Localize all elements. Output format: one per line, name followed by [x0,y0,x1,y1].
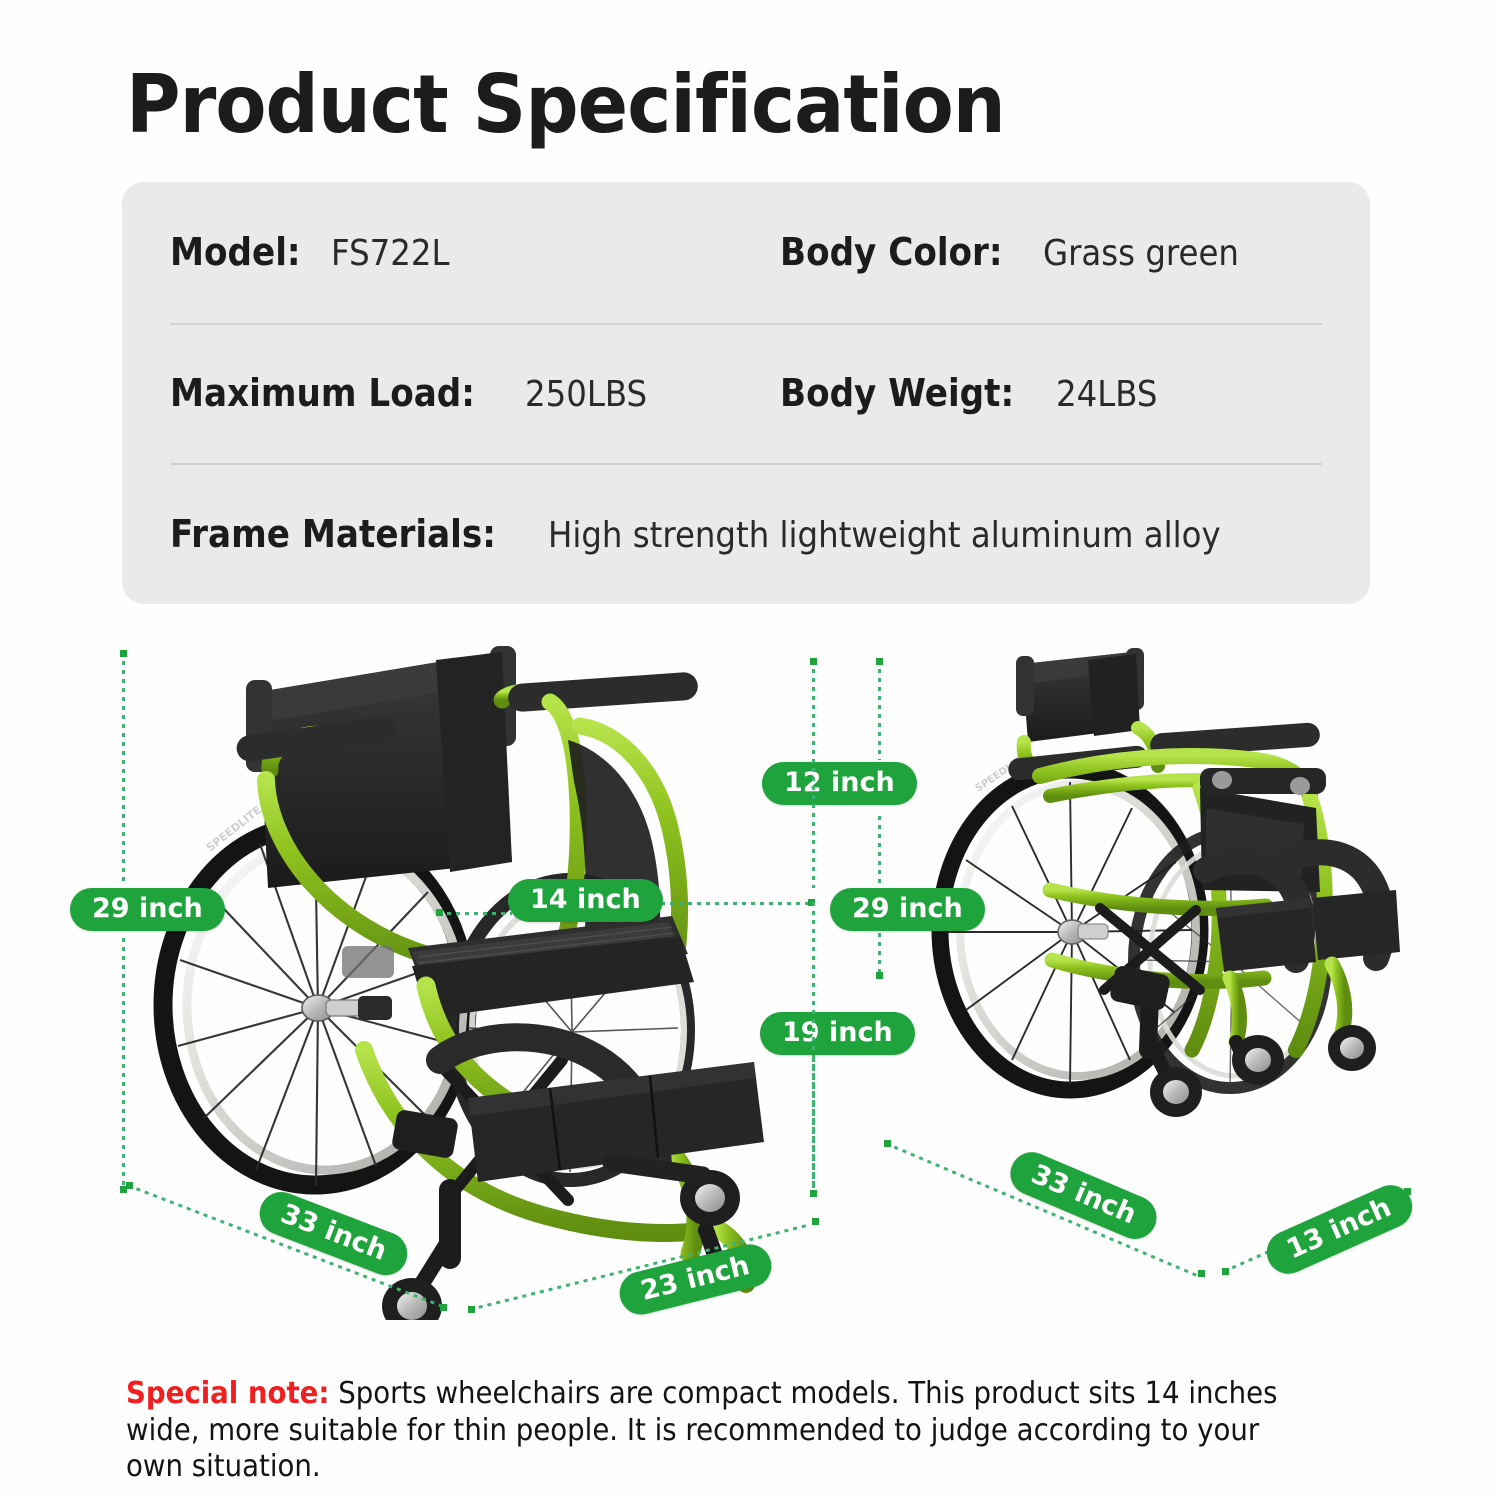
badge-left-height: 29 inch [70,888,225,931]
dimline-endcap [468,1306,475,1313]
dimline-endcap [810,1190,817,1197]
page-title: Product Specification [126,58,1005,151]
dimline-right-height-bottom [812,938,815,1188]
dimline-endcap [1222,1268,1229,1275]
caster-right [1328,1025,1376,1071]
dimline-endcap [876,658,883,665]
spec-value-body-weight: 24LBS [1056,374,1158,415]
badge-seat-height: 19 inch [760,1012,915,1055]
special-note-label: Special note: [126,1376,329,1411]
spec-row: Maximum Load: 250LBS Body Weigt: 24LBS [170,323,1322,464]
specification-card: Model: FS722L Body Color: Grass green Ma… [122,182,1370,604]
dimline-left-height-top [122,652,125,882]
dimline-endcap [810,658,817,665]
spec-value-maximum-load: 250LBS [525,374,647,415]
dimline-endcap [120,650,127,657]
spec-row: Frame Materials: High strength lightweig… [170,463,1322,604]
dimline-endcap [1198,1270,1205,1277]
badge-backrest: 12 inch [762,762,917,805]
spec-value-body-color: Grass green [1043,233,1239,274]
dimline-right-height-top [812,660,815,888]
spec-label-frame-materials: Frame Materials: [170,512,496,556]
dimline-seat-width-left [438,912,512,915]
dimline-endcap [884,1140,891,1147]
spec-label-model: Model: [170,230,301,274]
dimline-endcap [126,1182,133,1189]
dimline-endcap [812,1218,819,1225]
spec-cell-body-color: Body Color: Grass green [780,230,1261,274]
dimline-left-height-bottom [122,938,125,1190]
wheelchair-side-view: SPEEDLITE [150,630,830,1320]
spec-cell-model: Model: FS722L [170,230,780,274]
product-illustration: SPEEDLITE [0,620,1500,1350]
spec-cell-body-weight: Body Weigt: 24LBS [780,371,1169,415]
special-note: Special note: Sports wheelchairs are com… [126,1376,1313,1486]
spec-cell-maximum-load: Maximum Load: 250LBS [170,371,780,415]
spec-label-body-color: Body Color: [780,230,1003,274]
spec-label-maximum-load: Maximum Load: [170,371,475,415]
dimline-endcap [876,972,883,979]
badge-right-height: 29 inch [830,888,985,931]
spec-row: Model: FS722L Body Color: Grass green [170,182,1322,323]
spec-label-body-weight: Body Weigt: [780,371,1014,415]
spec-cell-frame-materials: Frame Materials: High strength lightweig… [170,512,1296,556]
spec-value-frame-materials: High strength lightweight aluminum alloy [548,515,1221,556]
caster-mid [1232,1035,1284,1085]
folded-backrest [1016,648,1144,742]
spec-value-model: FS722L [331,233,450,274]
product-spec-page: Product Specification Model: FS722L Body… [0,0,1500,1500]
badge-seat-width: 14 inch [508,879,663,922]
dimline-endcap [440,1304,447,1311]
dimline-backrest-top [878,660,881,760]
dimline-endcap [436,909,443,916]
armrest-right [507,671,698,712]
